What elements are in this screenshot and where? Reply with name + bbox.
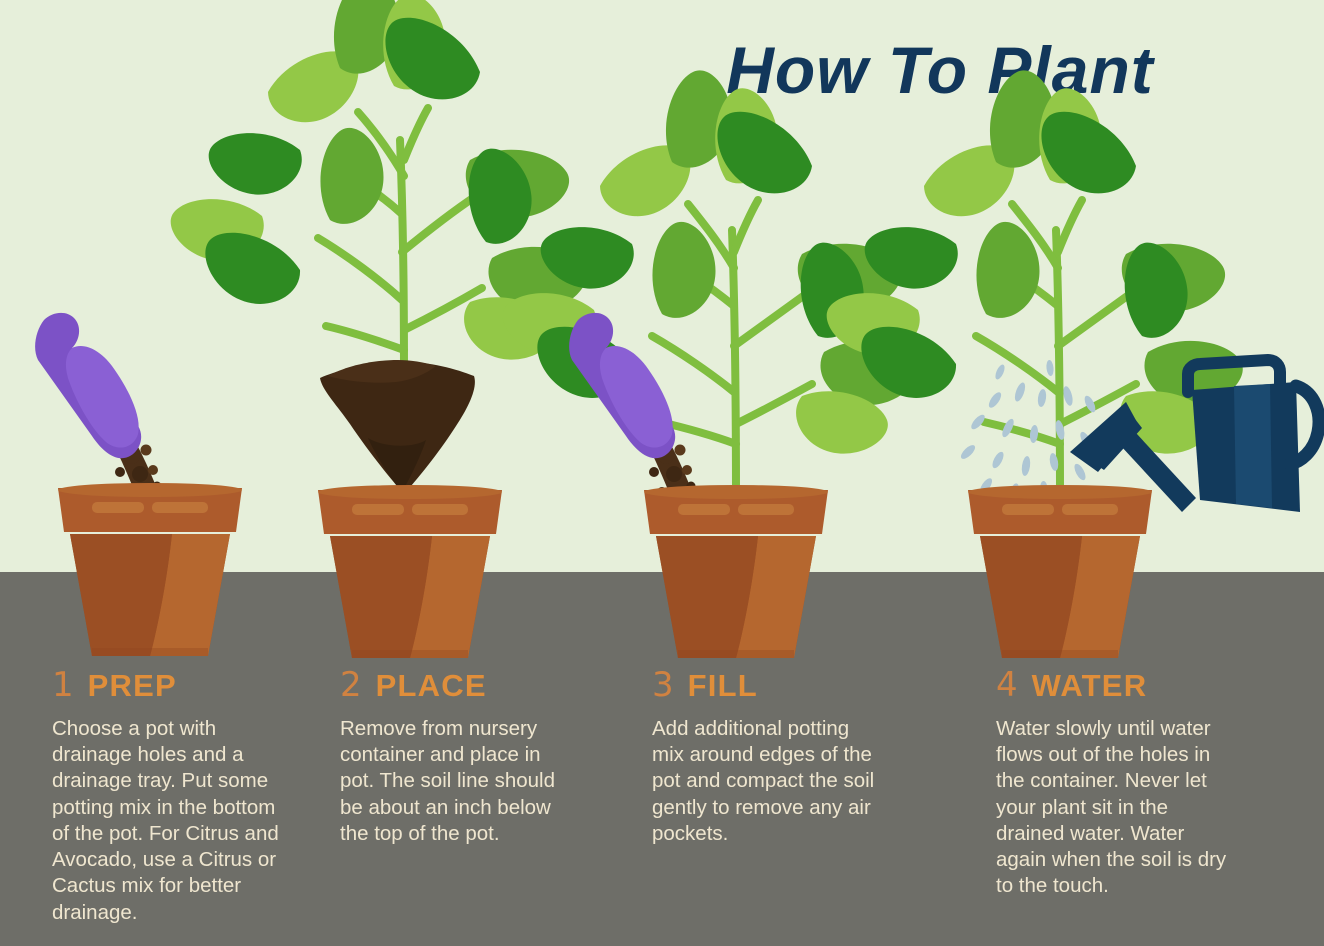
step-1-body: Choose a pot with drainage holes and a d… [52, 716, 302, 926]
step-1-title: PREP [88, 670, 177, 701]
step-2-title: PLACE [376, 670, 487, 701]
step-2-heading: 2 PLACE [340, 668, 590, 702]
step-4-heading: 4 WATER [996, 668, 1246, 702]
step-3-title: FILL [688, 670, 758, 701]
terracotta-pot-icon [318, 485, 502, 658]
plant-leaves [824, 63, 1248, 471]
terracotta-pot-icon [968, 485, 1152, 658]
terracotta-pot-icon [644, 485, 828, 658]
step-1-heading: 1 PREP [52, 668, 302, 702]
step-3-heading: 3 FILL [652, 668, 907, 702]
step-2-number: 2 [340, 668, 362, 702]
terracotta-pot-icon [58, 483, 242, 656]
trowel-icon [35, 313, 141, 458]
step-1-number: 1 [52, 668, 74, 702]
plant-leaves [500, 63, 924, 471]
step-4: 4 WATER Water slowly until water flows o… [996, 668, 1246, 900]
step-3-body: Add additional potting mix around edges … [652, 716, 907, 847]
step-2-body: Remove from nursery container and place … [340, 716, 590, 847]
step-3-number: 3 [652, 668, 674, 702]
step1-artwork [35, 313, 242, 656]
step4-artwork [824, 63, 1319, 658]
step3-artwork [500, 63, 924, 658]
infographic-page: How To Plant [0, 0, 1324, 946]
step-3: 3 FILL Add additional potting mix around… [652, 668, 907, 847]
illustration-scene [0, 0, 1324, 680]
step-4-body: Water slowly until water flows out of th… [996, 716, 1246, 900]
step-2: 2 PLACE Remove from nursery container an… [340, 668, 590, 847]
step-4-title: WATER [1032, 670, 1148, 701]
step-4-number: 4 [996, 668, 1018, 702]
step-1: 1 PREP Choose a pot with drainage holes … [52, 668, 302, 926]
